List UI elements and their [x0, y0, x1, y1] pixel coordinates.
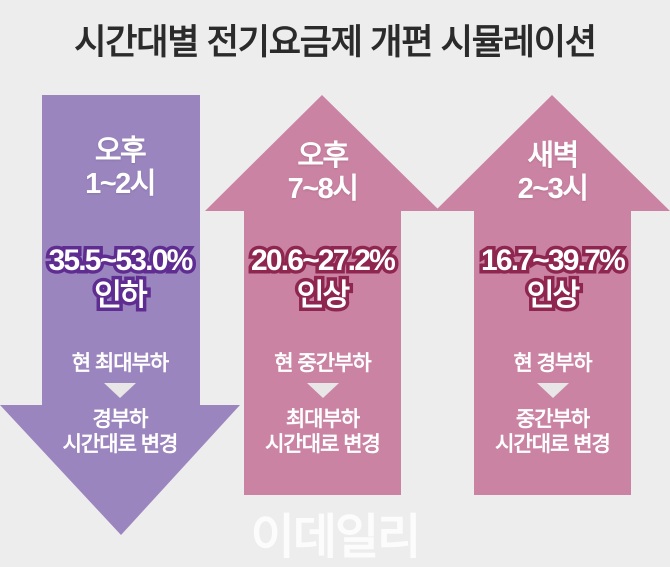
percent-range-1: 35.5~53.0%: [0, 243, 240, 278]
arrow-column-afternoon-7-8: 오후 7~8시 20.6~27.2% 인상 현 중간부하 최대부하 시간대로 변…: [205, 95, 440, 545]
state-to-2: 최대부하 시간대로 변경: [205, 407, 440, 457]
time-label-2: 오후 7~8시: [205, 140, 440, 206]
state-to-line2: 시간대로 변경: [435, 432, 670, 457]
state-to-line2: 시간대로 변경: [0, 432, 240, 457]
transition-caret-icon-1: [0, 383, 240, 398]
time-label-1: 오후 1~2시: [0, 135, 240, 201]
time-line2: 2~3시: [518, 173, 588, 205]
state-from-1: 현 최대부하: [0, 347, 240, 377]
state-to-line1: 최대부하: [205, 407, 440, 432]
percent-range-3: 16.7~39.7%: [435, 243, 670, 278]
infographic-canvas: 시간대별 전기요금제 개편 시뮬레이션 오후 1~2시 35.5~53.0% 인…: [0, 0, 670, 559]
state-to-line1: 경부하: [0, 407, 240, 432]
transition-caret-icon-2: [205, 383, 440, 398]
arrow-column-dawn-2-3: 새벽 2~3시 16.7~39.7% 인상 현 경부하 중간부하 시간대로 변경: [435, 95, 670, 545]
percent-direction-2: 인상: [205, 278, 440, 313]
time-line1: 오후: [95, 135, 145, 167]
percent-direction-3: 인상: [435, 278, 670, 313]
state-to-3: 중간부하 시간대로 변경: [435, 407, 670, 457]
percent-block-1: 35.5~53.0% 인하: [0, 243, 240, 313]
percent-block-3: 16.7~39.7% 인상: [435, 243, 670, 313]
state-from-2: 현 중간부하: [205, 347, 440, 377]
time-label-3: 새벽 2~3시: [435, 140, 670, 206]
percent-range-2: 20.6~27.2%: [205, 243, 440, 278]
time-line1: 새벽: [527, 140, 577, 172]
time-line2: 1~2시: [85, 168, 155, 200]
state-to-line2: 시간대로 변경: [205, 432, 440, 457]
state-to-1: 경부하 시간대로 변경: [0, 407, 240, 457]
arrow-column-afternoon-1-2: 오후 1~2시 35.5~53.0% 인하 현 최대부하 경부하 시간대로 변경: [0, 95, 240, 545]
time-line2: 7~8시: [288, 173, 358, 205]
page-title: 시간대별 전기요금제 개편 시뮬레이션: [0, 14, 670, 65]
state-to-line1: 중간부하: [435, 407, 670, 432]
time-line1: 오후: [297, 140, 347, 172]
state-from-3: 현 경부하: [435, 347, 670, 377]
transition-caret-icon-3: [435, 383, 670, 398]
percent-block-2: 20.6~27.2% 인상: [205, 243, 440, 313]
percent-direction-1: 인하: [0, 278, 240, 313]
